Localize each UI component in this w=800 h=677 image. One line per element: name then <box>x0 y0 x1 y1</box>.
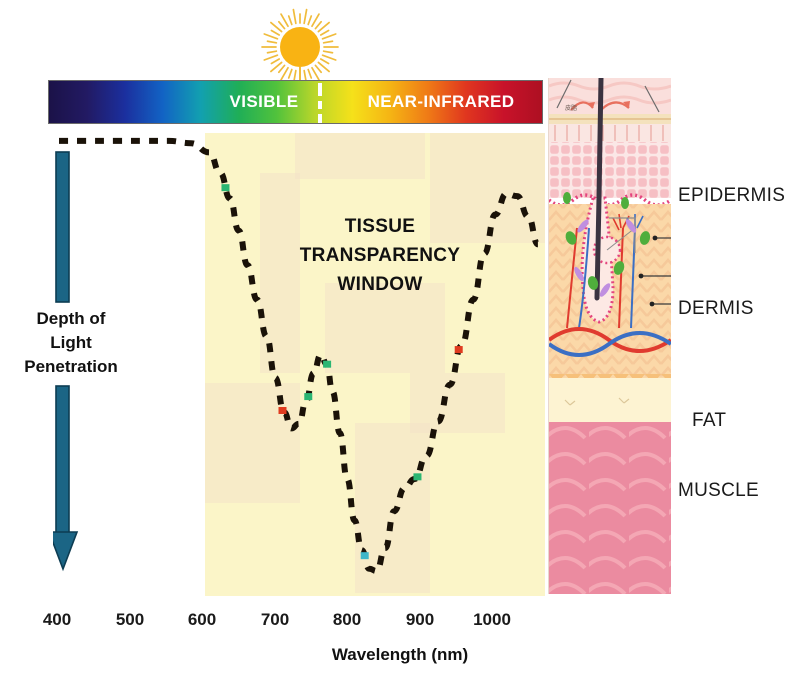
x-tick-900: 900 <box>390 610 450 630</box>
depth-arrow-upper-shaft <box>53 151 75 303</box>
depth-arrow-lower-shaft-with-head <box>53 385 89 572</box>
x-tick-700: 700 <box>245 610 305 630</box>
spectrum-visible-label: VISIBLE <box>209 92 319 112</box>
x-axis-title: Wavelength (nm) <box>250 645 550 665</box>
x-tick-800: 800 <box>317 610 377 630</box>
x-tick-1000: 1000 <box>462 610 522 630</box>
skin-label-fat: FAT <box>692 410 726 432</box>
x-tick-500: 500 <box>100 610 160 630</box>
skin-cross-section-diagram: 体毛 皮脂 <box>548 78 671 594</box>
sun-icon <box>250 4 350 90</box>
skin-label-dermis: DERMIS <box>678 298 754 320</box>
x-tick-600: 600 <box>172 610 232 630</box>
skin-label-epidermis: EPIDERMIS <box>678 185 785 207</box>
skin-jp-sebum-label: 皮脂 <box>565 103 577 112</box>
spectrum-nir-label: NEAR-INFRARED <box>341 92 541 112</box>
depth-label-line2: Light <box>6 331 136 355</box>
depth-of-light-penetration-label: Depth of Light Penetration <box>6 307 136 379</box>
depth-label-line1: Depth of <box>6 307 136 331</box>
x-tick-400: 400 <box>27 610 87 630</box>
spectrum-divider-icon <box>318 83 322 123</box>
skin-label-muscle: MUSCLE <box>678 480 759 502</box>
spectrum-bar: VISIBLE NEAR-INFRARED <box>48 80 543 124</box>
depth-label-line3: Penetration <box>6 355 136 379</box>
